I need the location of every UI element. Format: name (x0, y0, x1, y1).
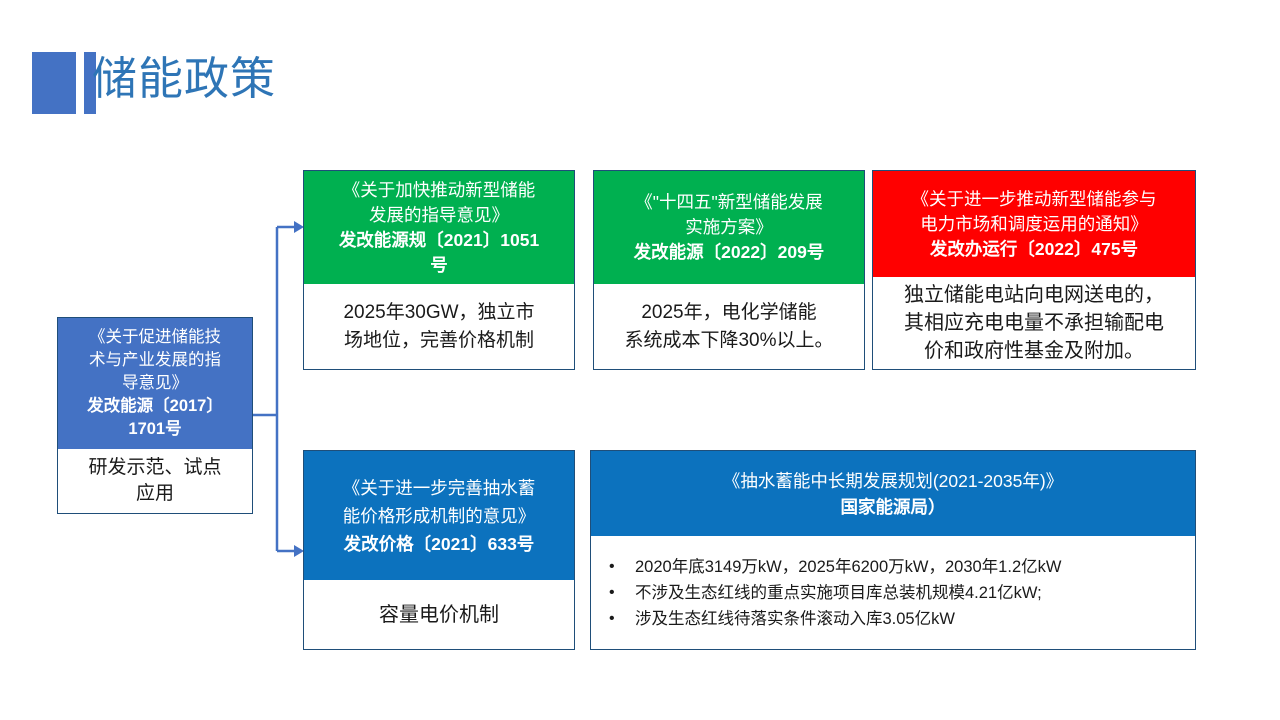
card-origin-body: 研发示范、试点 应用 (58, 449, 252, 513)
card-green-implementation-plan[interactable]: 《"十四五"新型储能发展 实施方案》 发改能源〔2022〕209号 2025年，… (593, 170, 865, 370)
card-origin-header-line: 《关于促进储能技 (89, 326, 221, 349)
card-green1-body: 2025年30GW，独立市 场地位，完善价格机制 (304, 284, 574, 369)
card-green-guidance-opinion[interactable]: 《关于加快推动新型储能 发展的指导意见》 发改能源规〔2021〕1051 号 2… (303, 170, 575, 370)
card-green2-body-line: 2025年，电化学储能 (641, 299, 816, 327)
card-green2-body-line: 系统成本下降30%以上。 (624, 327, 833, 355)
card-origin-header: 《关于促进储能技 术与产业发展的指 导意见》 发改能源〔2017〕 1701号 (58, 318, 252, 449)
list-item-text: 不涉及生态红线的重点实施项目库总装机规模4.21亿kW; (635, 580, 1185, 606)
card-origin-header-line: 1701号 (128, 418, 181, 441)
card-origin-header-line: 术与产业发展的指 (89, 349, 221, 372)
card-red-body-line: 其相应充电电量不承担输配电 (904, 309, 1164, 337)
card-blue-longterm-plan[interactable]: 《抽水蓄能中长期发展规划(2021-2035年)》 国家能源局） • 2020年… (590, 450, 1196, 650)
card-red-header: 《关于进一步推动新型储能参与 电力市场和调度运用的通知》 发改办运行〔2022〕… (873, 171, 1195, 277)
card-green1-header-line: 《关于加快推动新型储能 (343, 178, 536, 203)
card-blue1-body: 容量电价机制 (304, 580, 574, 649)
card-green2-header-line: 实施方案》 (685, 215, 773, 240)
bullet-dot-icon: • (609, 606, 635, 632)
card-blue2-header: 《抽水蓄能中长期发展规划(2021-2035年)》 国家能源局） (591, 451, 1195, 536)
card-green2-header-line: 《"十四五"新型储能发展 (635, 190, 822, 215)
card-blue2-body: • 2020年底3149万kW，2025年6200万kW，2030年1.2亿kW… (591, 536, 1195, 649)
list-item: • 2020年底3149万kW，2025年6200万kW，2030年1.2亿kW (609, 554, 1185, 580)
card-blue1-body-line: 容量电价机制 (379, 601, 499, 629)
card-origin-body-line: 应用 (136, 481, 174, 507)
bullet-dot-icon: • (609, 554, 635, 580)
card-green1-body-line: 2025年30GW，独立市 (343, 299, 534, 327)
card-red-body-line: 独立储能电站向电网送电的， (904, 281, 1164, 309)
card-blue2-header-line: 《抽水蓄能中长期发展规划(2021-2035年)》 (723, 468, 1063, 494)
card-origin-header-line: 导意见》 (122, 372, 188, 395)
card-red-market-notice[interactable]: 《关于进一步推动新型储能参与 电力市场和调度运用的通知》 发改办运行〔2022〕… (872, 170, 1196, 370)
card-green1-header-line: 号 (430, 253, 448, 278)
card-green1-header: 《关于加快推动新型储能 发展的指导意见》 发改能源规〔2021〕1051 号 (304, 171, 574, 284)
card-origin-body-line: 研发示范、试点 (88, 455, 221, 481)
card-blue1-header-line: 《关于进一步完善抽水蓄 (343, 474, 536, 502)
card-red-header-line: 《关于进一步推动新型储能参与 (912, 187, 1157, 212)
card-blue1-header-line: 能价格形成机制的意见》 (343, 502, 536, 530)
title-accent-bar-wide (32, 52, 76, 114)
bullet-dot-icon: • (609, 580, 635, 606)
page-title: 储能政策 (92, 48, 276, 110)
card-red-body: 独立储能电站向电网送电的， 其相应充电电量不承担输配电 价和政府性基金及附加。 (873, 277, 1195, 369)
card-blue2-header-line: 国家能源局） (841, 494, 946, 520)
card-green1-body-line: 场地位，完善价格机制 (344, 327, 534, 355)
card-blue-pricing-mechanism[interactable]: 《关于进一步完善抽水蓄 能价格形成机制的意见》 发改价格〔2021〕633号 容… (303, 450, 575, 650)
card-green2-body: 2025年，电化学储能 系统成本下降30%以上。 (594, 284, 864, 369)
list-item: • 不涉及生态红线的重点实施项目库总装机规模4.21亿kW; (609, 580, 1185, 606)
card-blue1-header-line: 发改价格〔2021〕633号 (344, 530, 535, 558)
card-green1-header-line: 发改能源规〔2021〕1051 (339, 228, 539, 253)
list-item-text: 涉及生态红线待落实条件滚动入库3.05亿kW (635, 606, 1185, 632)
card-origin-header-line: 发改能源〔2017〕 (87, 395, 223, 418)
card-origin[interactable]: 《关于促进储能技 术与产业发展的指 导意见》 发改能源〔2017〕 1701号 … (57, 317, 253, 514)
card-green1-header-line: 发展的指导意见》 (369, 203, 509, 228)
list-item-text: 2020年底3149万kW，2025年6200万kW，2030年1.2亿kW (635, 554, 1185, 580)
card-red-body-line: 价和政府性基金及附加。 (924, 337, 1144, 365)
card-red-header-line: 发改办运行〔2022〕475号 (930, 237, 1138, 262)
card-red-header-line: 电力市场和调度运用的通知》 (920, 212, 1148, 237)
card-green2-header-line: 发改能源〔2022〕209号 (634, 240, 825, 265)
list-item: • 涉及生态红线待落实条件滚动入库3.05亿kW (609, 606, 1185, 632)
card-green2-header: 《"十四五"新型储能发展 实施方案》 发改能源〔2022〕209号 (594, 171, 864, 284)
bullet-list: • 2020年底3149万kW，2025年6200万kW，2030年1.2亿kW… (609, 554, 1185, 632)
card-blue1-header: 《关于进一步完善抽水蓄 能价格形成机制的意见》 发改价格〔2021〕633号 (304, 451, 574, 580)
